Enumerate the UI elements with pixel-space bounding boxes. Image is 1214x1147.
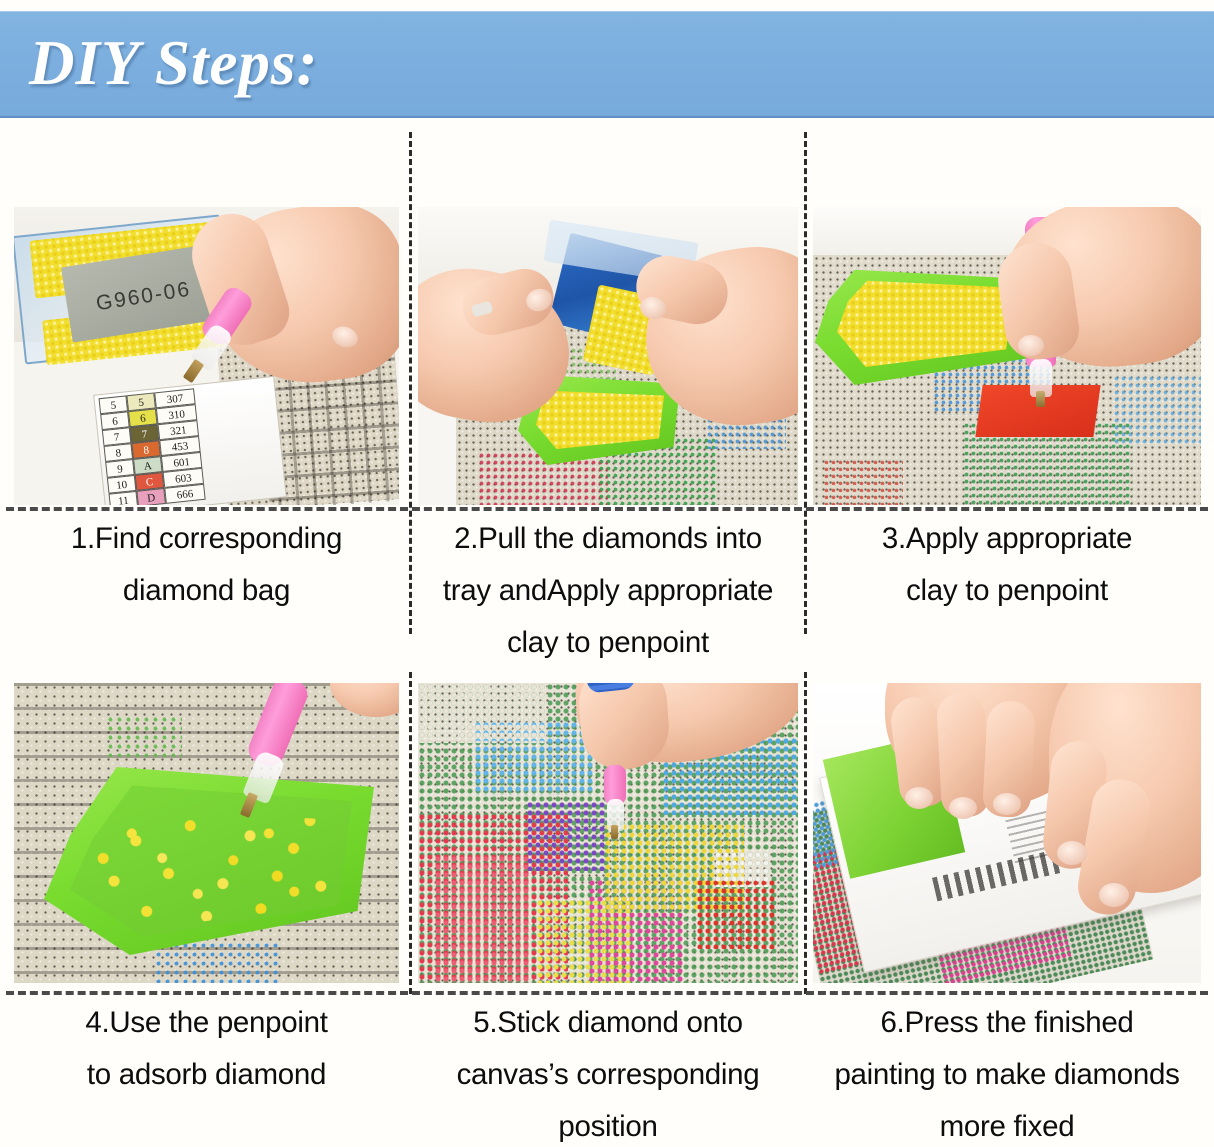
step-6-caption-line-2: painting to make diamonds — [813, 1049, 1201, 1101]
step-3-caption: 3.Apply appropriate clay to penpoint — [813, 513, 1201, 617]
step-1-photo: G960-06 5 5 307 6 6 310 7 7 321 8 8 453 … — [14, 207, 399, 505]
step-4-photo — [14, 683, 399, 983]
vertical-divider-2-bottom — [804, 672, 807, 994]
step-5-caption-line-1: 5.Stick diamond onto — [418, 997, 798, 1049]
step-2-photo — [418, 207, 798, 505]
header-banner: DIY Steps: — [0, 11, 1214, 118]
step-6-photo — [813, 683, 1201, 983]
step-6-caption-line-3: more fixed — [813, 1101, 1201, 1147]
step-2-caption: 2.Pull the diamonds into tray andApply a… — [418, 513, 798, 669]
vertical-divider-1-top — [409, 132, 412, 634]
step-2-caption-line-1: 2.Pull the diamonds into — [418, 513, 798, 565]
vertical-divider-2-top — [804, 132, 807, 634]
step-3-caption-line-2: clay to penpoint — [813, 565, 1201, 617]
step-4-caption-line-2: to adsorb diamond — [14, 1049, 399, 1101]
step-1-caption: 1.Find corresponding diamond bag — [14, 513, 399, 617]
step-4-caption-line-1: 4.Use the penpoint — [14, 997, 399, 1049]
page-title: DIY Steps: — [29, 28, 318, 98]
step-6-caption: 6.Press the finished painting to make di… — [813, 997, 1201, 1147]
step-1-caption-line-2: diamond bag — [14, 565, 399, 617]
step-4-caption: 4.Use the penpoint to adsorb diamond — [14, 997, 399, 1101]
step-5-photo — [418, 683, 798, 983]
step-2-caption-line-2: tray andApply appropriate — [418, 565, 798, 617]
step-1-caption-line-1: 1.Find corresponding — [14, 513, 399, 565]
step-5-caption: 5.Stick diamond onto canvas’s correspond… — [418, 997, 798, 1147]
step-6-caption-line-1: 6.Press the finished — [813, 997, 1201, 1049]
step-3-caption-line-1: 3.Apply appropriate — [813, 513, 1201, 565]
step-3-photo — [813, 207, 1201, 505]
horizontal-divider-row2 — [6, 991, 1208, 995]
step-5-caption-line-3: position — [418, 1101, 798, 1147]
horizontal-divider-row1 — [6, 507, 1208, 511]
vertical-divider-1-bottom — [409, 672, 412, 994]
step-5-caption-line-2: canvas’s corresponding — [418, 1049, 798, 1101]
diy-steps-infographic: DIY Steps: G960-06 — [0, 0, 1214, 1147]
step-2-caption-line-3: clay to penpoint — [418, 617, 798, 669]
